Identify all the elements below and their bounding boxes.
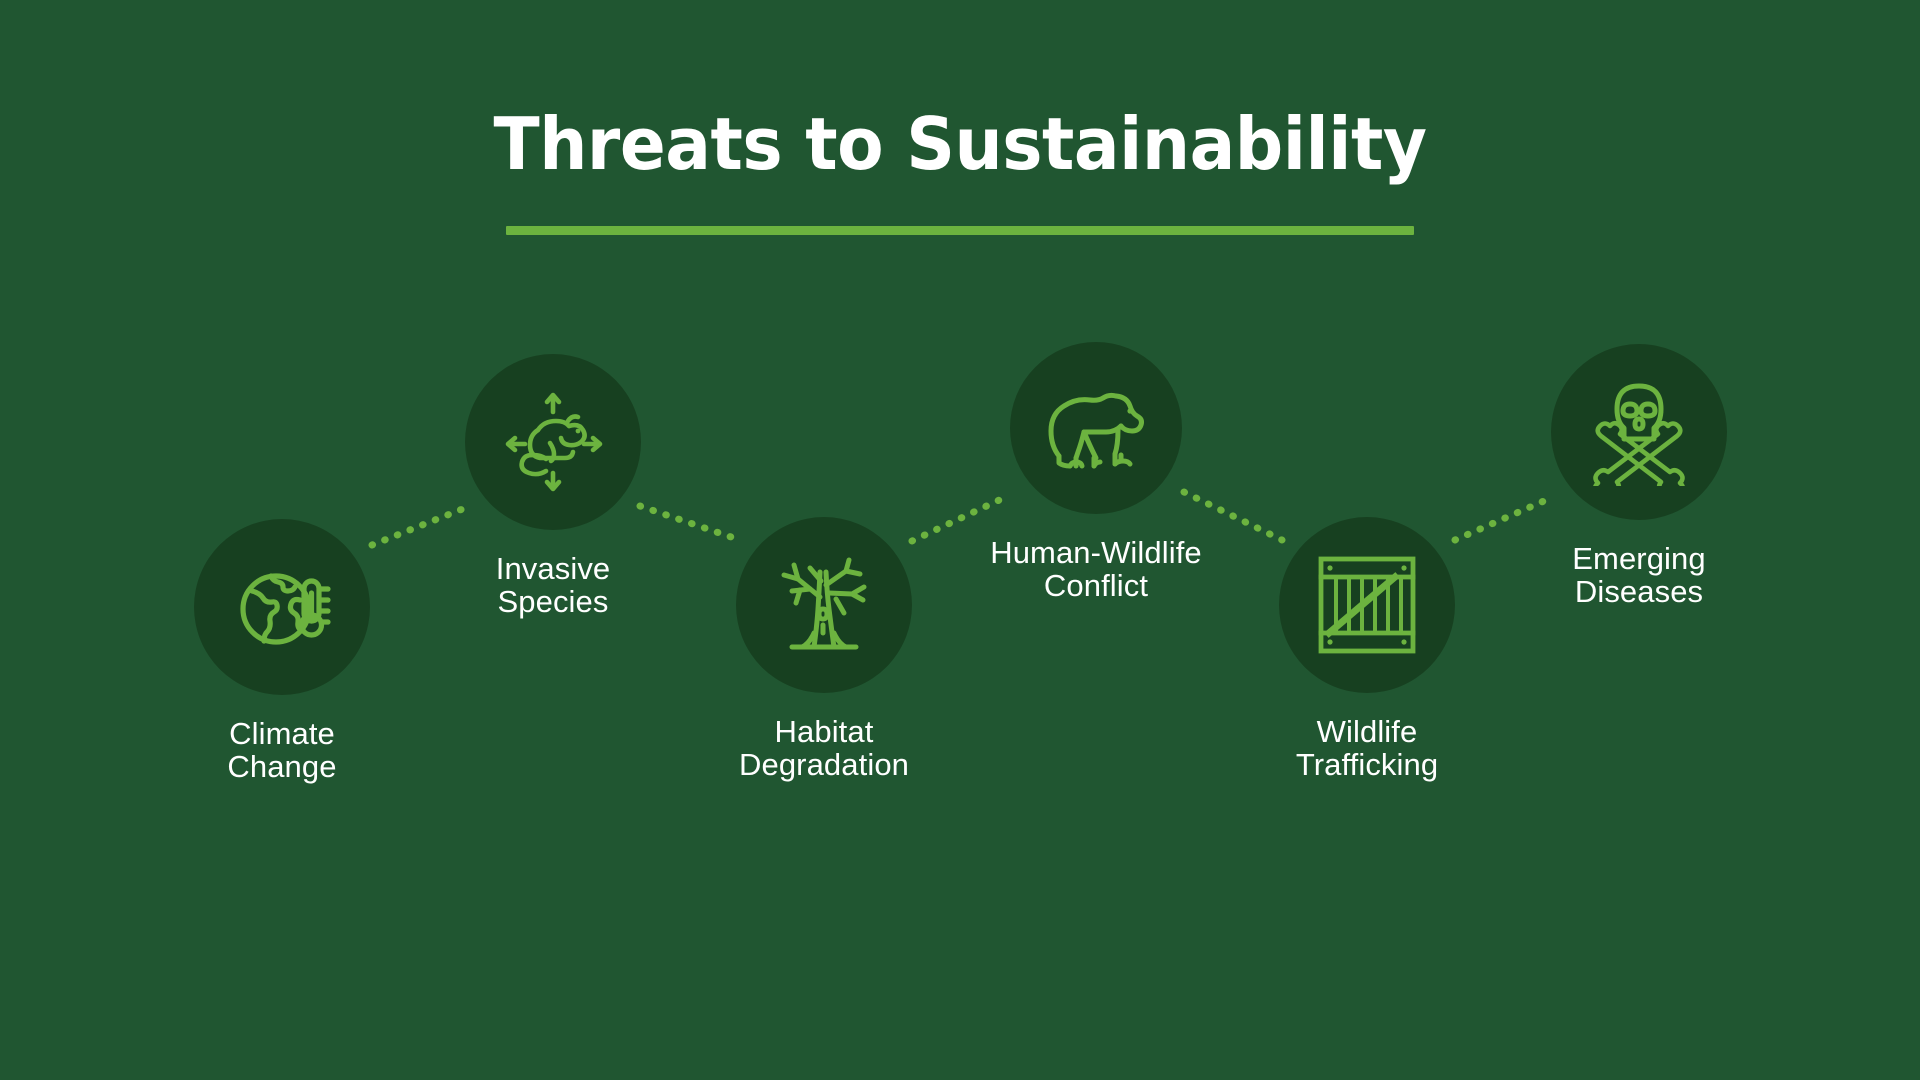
skull-crossbones-icon xyxy=(1585,378,1693,486)
bear-icon xyxy=(1037,378,1155,478)
node-circle xyxy=(1551,344,1727,520)
node-human-wildlife-conflict[interactable]: Human-Wildlife Conflict xyxy=(946,342,1246,603)
node-wildlife-trafficking[interactable]: Wildlife Trafficking xyxy=(1217,517,1517,782)
node-climate-change[interactable]: Climate Change xyxy=(132,519,432,784)
node-circle xyxy=(1010,342,1182,514)
node-label: Climate Change xyxy=(132,717,432,784)
node-label: Invasive Species xyxy=(403,552,703,619)
node-circle xyxy=(194,519,370,695)
shipping-crate-icon xyxy=(1315,553,1419,657)
bare-tree-icon xyxy=(770,551,878,659)
node-invasive-species[interactable]: Invasive Species xyxy=(403,354,703,619)
node-label: Wildlife Trafficking xyxy=(1217,715,1517,782)
node-circle xyxy=(465,354,641,530)
node-label: Human-Wildlife Conflict xyxy=(946,536,1246,603)
node-habitat-degradation[interactable]: Habitat Degradation xyxy=(674,517,974,782)
node-label: Habitat Degradation xyxy=(674,715,974,782)
node-circle xyxy=(736,517,912,693)
node-circle xyxy=(1279,517,1455,693)
threats-diagram: Climate Change xyxy=(0,0,1920,1080)
node-emerging-diseases[interactable]: Emerging Diseases xyxy=(1489,344,1789,609)
rat-spread-arrows-icon xyxy=(498,387,608,497)
node-label: Emerging Diseases xyxy=(1489,542,1789,609)
globe-thermometer-icon xyxy=(230,555,334,659)
